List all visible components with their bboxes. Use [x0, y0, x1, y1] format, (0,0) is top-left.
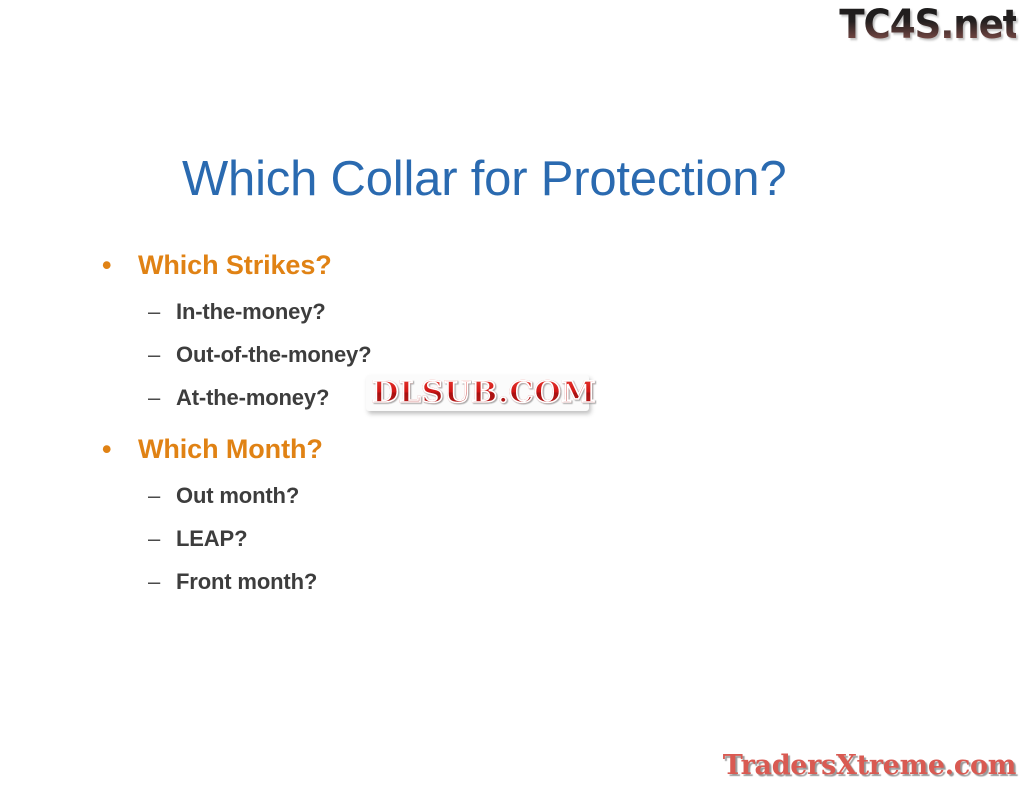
tc4s-brand-logo: TC4S.net	[826, 2, 1016, 48]
dlsub-watermark-text: DLSUB.COM	[372, 377, 596, 408]
bullet-level2-label: In-the-money?	[176, 299, 326, 324]
group-spacer	[96, 413, 736, 430]
slide-body-content: • Which Strikes? – In-the-money? – Out-o…	[96, 246, 736, 597]
bullet-dot-icon: •	[102, 246, 120, 284]
bullet-dash-icon: –	[148, 567, 172, 597]
bullet-dash-icon: –	[148, 383, 172, 413]
bullet-dash-icon: –	[148, 340, 172, 370]
bullet-level2-label: LEAP?	[176, 526, 247, 551]
dlsub-watermark: DLSUB.COM	[366, 375, 589, 411]
slide-title: Which Collar for Protection?	[182, 149, 882, 209]
bullet-level2: – Out month?	[96, 481, 736, 511]
brand-logo-text: TC4S.net	[839, 2, 1016, 48]
bullet-level1-label: Which Month?	[138, 434, 323, 464]
bullet-dash-icon: –	[148, 481, 172, 511]
bullet-dash-icon: –	[148, 524, 172, 554]
bullet-level1: • Which Month?	[96, 430, 736, 468]
bullet-level2-label: Out month?	[176, 483, 299, 508]
bullet-level2-label: Front month?	[176, 569, 317, 594]
bullet-level2: – LEAP?	[96, 524, 736, 554]
bullet-level1-label: Which Strikes?	[138, 250, 332, 280]
bullet-group: • Which Month? – Out month? – LEAP? – Fr…	[96, 430, 736, 597]
tradersxtreme-watermark: TradersXtreme.com	[723, 749, 1016, 783]
bullet-dot-icon: •	[102, 430, 120, 468]
tradersxtreme-watermark-text: TradersXtreme.com	[723, 749, 1016, 783]
presentation-slide: TC4S.net Which Collar for Protection? • …	[0, 0, 1024, 791]
bullet-dash-icon: –	[148, 297, 172, 327]
bullet-level2: – Out-of-the-money?	[96, 340, 736, 370]
bullet-level2-label: Out-of-the-money?	[176, 342, 371, 367]
bullet-level2: – In-the-money?	[96, 297, 736, 327]
bullet-level2-label: At-the-money?	[176, 385, 329, 410]
bullet-level1: • Which Strikes?	[96, 246, 736, 284]
bullet-level2: – Front month?	[96, 567, 736, 597]
